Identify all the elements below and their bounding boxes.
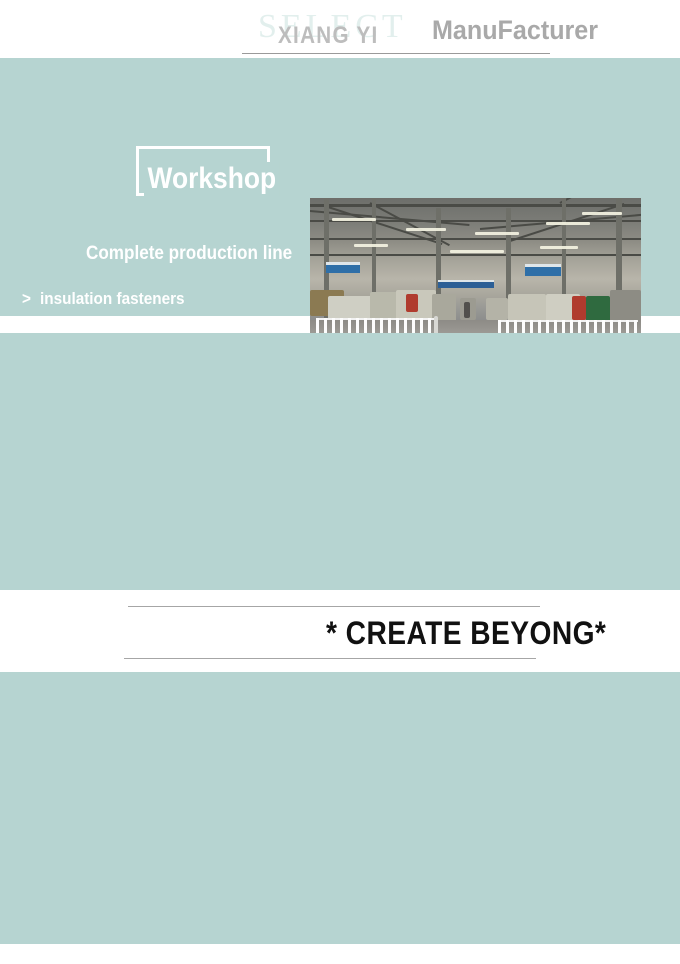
promotional-banner-page: SELECT XIANG YI ManuFacturer Workshop Co… [0,0,680,964]
workshop-title: Workshop [144,162,280,196]
header-divider [242,53,550,54]
workshop-title-bracket: Workshop [136,146,270,196]
workshop-headline: Complete production line [86,243,292,265]
workshop-bullet-1-text: insulation fasteners [40,289,185,308]
banner-divider-top [128,606,540,607]
workshop-photo [310,198,641,354]
banner-divider-bottom [124,658,536,659]
workshop-bullet-1: >insulation fasteners [22,289,185,309]
role-label: ManuFacturer [432,15,598,46]
slogan-banner: * CREATE BEYONG* [0,590,680,672]
section-workshop: Workshop Complete production line >insul… [0,58,680,316]
section-warehouse: Warehouse Management sufficient stock fa… [0,672,680,944]
brand-name: XIANG YI [278,22,379,50]
page-header: SELECT XIANG YI ManuFacturer [0,0,680,56]
chevron-right-icon: > [22,289,40,309]
section-facility [0,333,680,590]
slogan-text: * CREATE BEYONG* [326,615,606,652]
